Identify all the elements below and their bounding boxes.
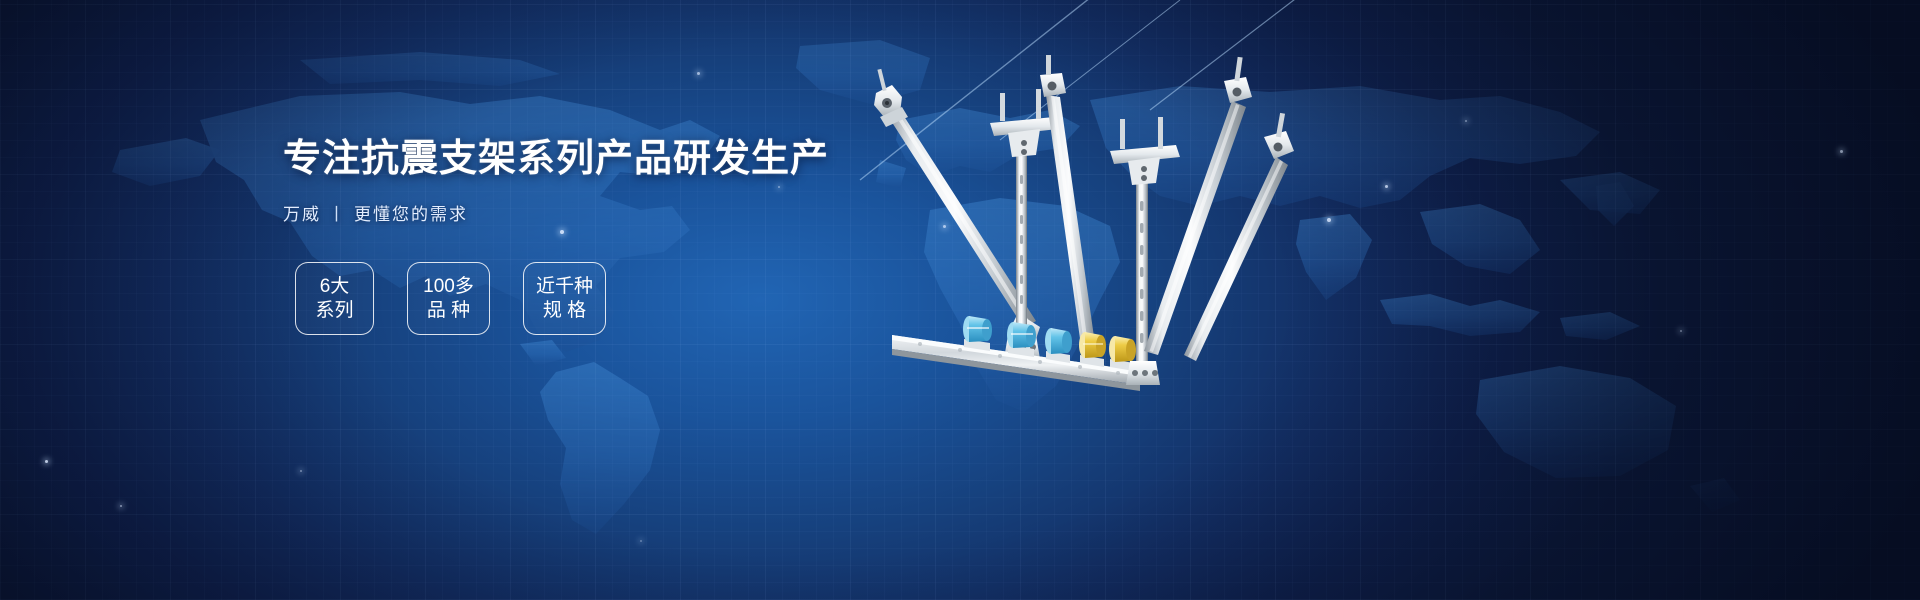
- stat-badge-specifications[interactable]: 近千种 规 格: [523, 262, 606, 335]
- stat-badge-varieties[interactable]: 100多 品 种: [407, 262, 490, 335]
- subtitle: 万威丨更懂您的需求: [283, 200, 803, 225]
- stat-badge-specifications-line1: 近千种: [536, 275, 593, 299]
- stat-badge-specifications-line2: 规 格: [543, 299, 586, 323]
- hero-banner: 专注抗震支架系列产品研发生产 万威丨更懂您的需求 6大 系列 100多 品 种 …: [0, 0, 1920, 600]
- subtitle-text: 更懂您的需求: [354, 205, 468, 224]
- copy-block: 专注抗震支架系列产品研发生产 万威丨更懂您的需求: [283, 140, 803, 225]
- stat-badge-group: 6大 系列 100多 品 种 近千种 规 格: [295, 262, 606, 335]
- stat-badge-varieties-line1: 100多: [423, 275, 474, 299]
- subtitle-divider: 丨: [328, 200, 347, 225]
- stat-badge-series[interactable]: 6大 系列: [295, 262, 374, 335]
- subtitle-brand: 万威: [283, 205, 321, 224]
- stat-badge-series-line1: 6大: [320, 275, 350, 299]
- stat-badge-series-line2: 系列: [315, 299, 353, 323]
- stat-badge-varieties-line2: 品 种: [427, 299, 470, 323]
- page-title: 专注抗震支架系列产品研发生产: [283, 140, 803, 178]
- product-image-seismic-bracing: [840, 55, 1310, 405]
